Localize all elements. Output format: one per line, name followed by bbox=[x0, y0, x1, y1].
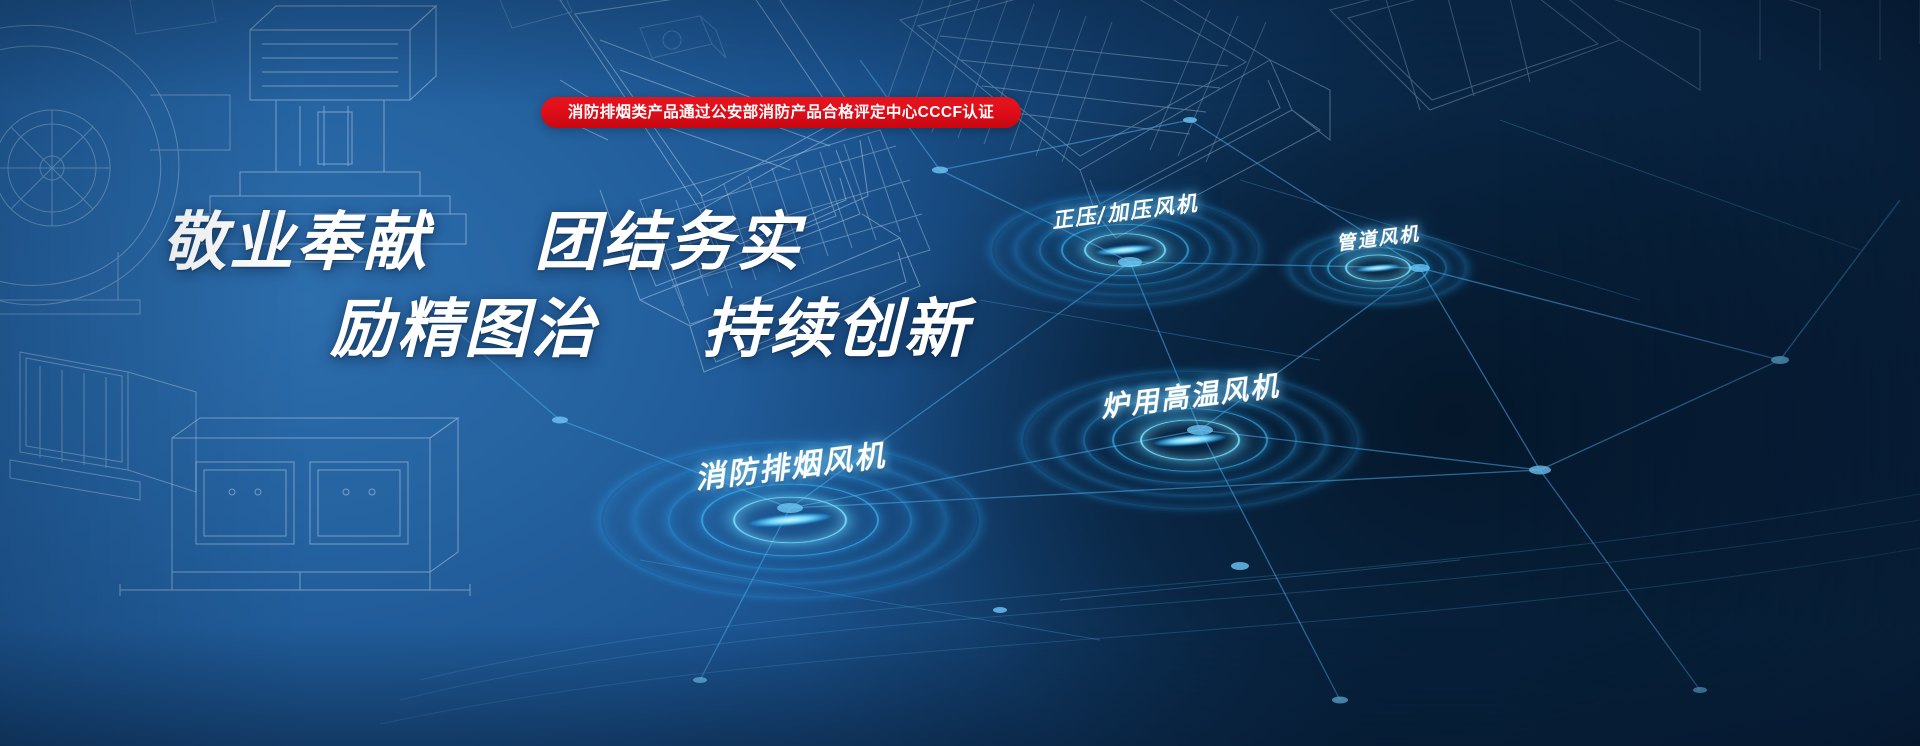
blueprint-thin-slats bbox=[880, 0, 1266, 162]
certification-text: 消防排烟类产品通过公安部消防产品合格评定中心CCCF认证 bbox=[568, 105, 994, 121]
blueprint-misc-small-parts bbox=[130, 0, 726, 58]
slogan-line2-part2: 持续创新 bbox=[703, 292, 971, 367]
slogan-line-2: 励精图治 持续创新 bbox=[330, 297, 910, 362]
slogan-line-1: 敬业奉献 团结务实 bbox=[162, 210, 910, 275]
hotspot-duct-fan[interactable]: 管道风机 bbox=[1290, 218, 1465, 318]
hotspot-pressure-fan[interactable]: 正压/加压风机 bbox=[1010, 190, 1240, 310]
hotspot-furnace-fan[interactable]: 炉用高温风机 bbox=[1045, 365, 1335, 515]
slogan-line1-part2: 团结务实 bbox=[535, 205, 803, 280]
blueprint-axial-duct bbox=[10, 352, 196, 500]
hotspot-smoke-exhaust-fan[interactable]: 消防排烟风机 bbox=[625, 430, 955, 610]
blueprint-ahu-cabinet bbox=[120, 418, 470, 596]
hero-banner: 消防排烟类产品通过公安部消防产品合格评定中心CCCF认证 敬业奉献 团结务实 励… bbox=[0, 0, 1920, 746]
slogan-line2-part1: 励精图治 bbox=[330, 292, 598, 367]
slogan-block: 敬业奉献 团结务实 励精图治 持续创新 bbox=[150, 210, 910, 363]
certification-ribbon: 消防排烟类产品通过公安部消防产品合格评定中心CCCF认证 bbox=[541, 97, 1021, 128]
blueprint-top-right-frame bbox=[1330, 0, 1920, 110]
slogan-line1-part1: 敬业奉献 bbox=[162, 205, 430, 280]
